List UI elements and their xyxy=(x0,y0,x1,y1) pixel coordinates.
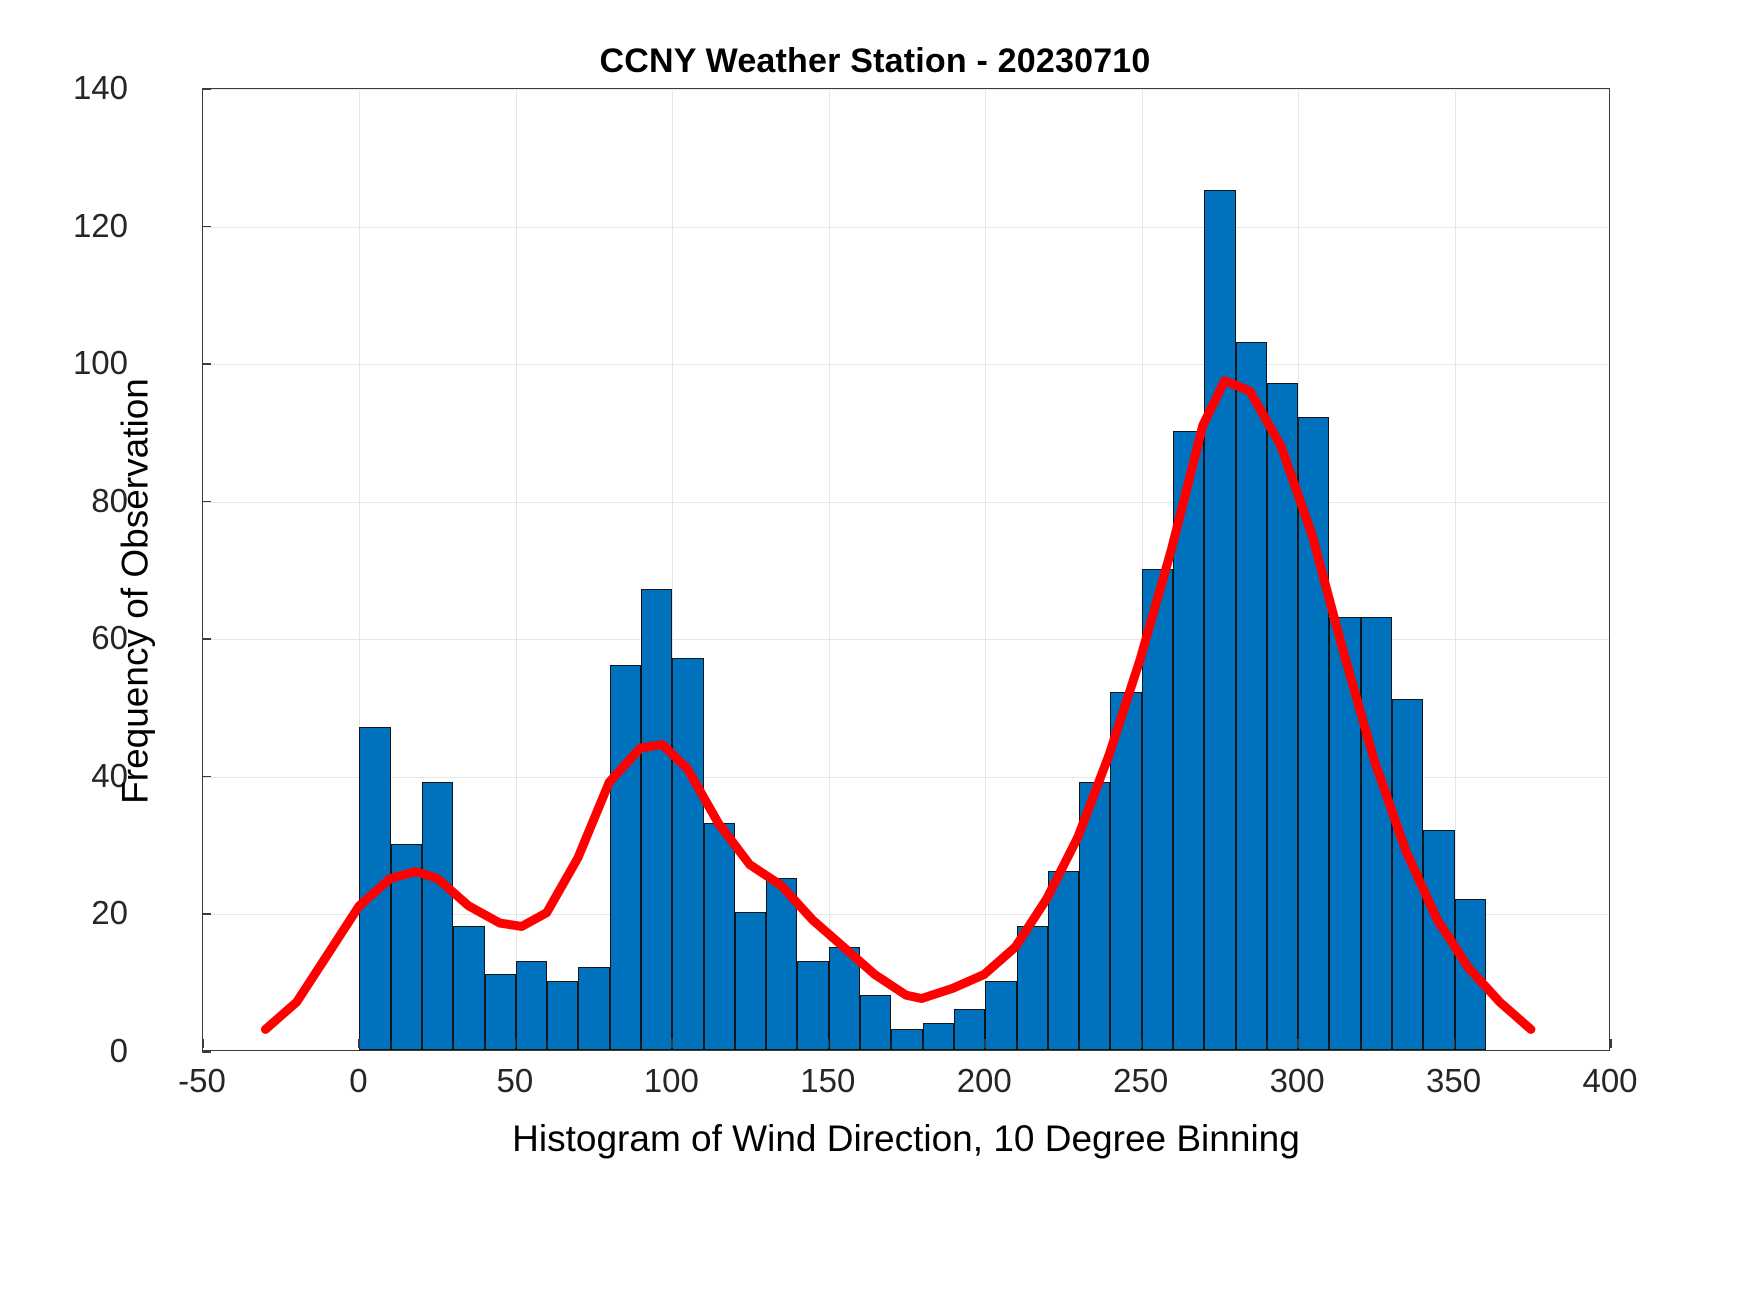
gridline-y-100 xyxy=(203,364,1609,365)
x-tick-label-200: 200 xyxy=(914,1062,1054,1100)
x-tick-label-150: 150 xyxy=(758,1062,898,1100)
histogram-bar xyxy=(1236,342,1267,1050)
y-tick-mark-20 xyxy=(202,913,211,915)
histogram-bar xyxy=(1204,190,1235,1050)
histogram-bar xyxy=(453,926,484,1050)
y-tick-mark-140 xyxy=(202,88,211,90)
histogram-bar xyxy=(359,727,390,1050)
gridline-y-140 xyxy=(203,89,1609,90)
y-tick-mark-60 xyxy=(202,638,211,640)
histogram-bar xyxy=(1423,830,1454,1050)
histogram-bar xyxy=(1142,569,1173,1051)
x-tick-label-300: 300 xyxy=(1227,1062,1367,1100)
y-tick-label-40: 40 xyxy=(8,757,128,795)
histogram-bar xyxy=(704,823,735,1050)
histogram-bar xyxy=(641,589,672,1050)
x-tick-mark-0 xyxy=(358,1039,360,1048)
histogram-bar xyxy=(1298,417,1329,1050)
histogram-bar xyxy=(610,665,641,1050)
y-tick-mark-120 xyxy=(202,226,211,228)
x-tick-mark-200 xyxy=(984,1039,986,1048)
chart-title: CCNY Weather Station - 20230710 xyxy=(0,42,1750,81)
gridline-x-150 xyxy=(829,89,830,1050)
histogram-bar xyxy=(1361,617,1392,1050)
histogram-bar xyxy=(829,947,860,1050)
y-tick-label-120: 120 xyxy=(8,207,128,245)
histogram-bar xyxy=(985,981,1016,1050)
gridline-y-80 xyxy=(203,502,1609,503)
x-tick-mark-250 xyxy=(1141,1039,1143,1048)
x-tick-mark-350 xyxy=(1454,1039,1456,1048)
y-tick-label-100: 100 xyxy=(8,344,128,382)
plot-area[interactable] xyxy=(202,88,1610,1051)
x-tick-label-250: 250 xyxy=(1071,1062,1211,1100)
histogram-bar xyxy=(391,844,422,1050)
histogram-bar xyxy=(766,878,797,1050)
histogram-bar xyxy=(735,912,766,1050)
x-tick-mark-100 xyxy=(671,1039,673,1048)
x-tick-mark--50 xyxy=(202,1039,204,1048)
x-tick-mark-400 xyxy=(1610,1039,1612,1048)
histogram-bar xyxy=(954,1009,985,1050)
x-tick-label-350: 350 xyxy=(1384,1062,1524,1100)
histogram-bar xyxy=(547,981,578,1050)
histogram-bar xyxy=(1267,383,1298,1050)
x-tick-mark-150 xyxy=(828,1039,830,1048)
y-tick-label-80: 80 xyxy=(8,482,128,520)
histogram-bar xyxy=(1110,692,1141,1050)
y-axis-label: Frequency of Observation xyxy=(115,110,157,1073)
y-tick-mark-80 xyxy=(202,501,211,503)
histogram-bar xyxy=(923,1023,954,1051)
gridline-x-50 xyxy=(516,89,517,1050)
histogram-bar xyxy=(1173,431,1204,1050)
x-tick-mark-50 xyxy=(515,1039,517,1048)
y-tick-mark-100 xyxy=(202,363,211,365)
histogram-bar xyxy=(516,961,547,1050)
histogram-bar xyxy=(1392,699,1423,1050)
y-tick-mark-0 xyxy=(202,1051,211,1053)
gridline-x-200 xyxy=(985,89,986,1050)
histogram-bar xyxy=(1079,782,1110,1050)
x-tick-label-400: 400 xyxy=(1540,1062,1680,1100)
x-tick-label-100: 100 xyxy=(601,1062,741,1100)
histogram-bar xyxy=(578,967,609,1050)
x-tick-label-50: 50 xyxy=(445,1062,585,1100)
histogram-bar xyxy=(891,1029,922,1050)
figure-canvas: CCNY Weather Station - 20230710 02040608… xyxy=(0,0,1750,1313)
y-tick-label-20: 20 xyxy=(8,894,128,932)
histogram-bar xyxy=(1017,926,1048,1050)
x-axis-label: Histogram of Wind Direction, 10 Degree B… xyxy=(202,1118,1610,1160)
histogram-bar xyxy=(797,961,828,1050)
histogram-bar xyxy=(1048,871,1079,1050)
x-tick-label-0: 0 xyxy=(288,1062,428,1100)
histogram-bar xyxy=(485,974,516,1050)
y-tick-label-0: 0 xyxy=(8,1032,128,1070)
y-tick-label-140: 140 xyxy=(8,69,128,107)
histogram-bar xyxy=(672,658,703,1050)
gridline-y-120 xyxy=(203,227,1609,228)
y-tick-label-60: 60 xyxy=(8,619,128,657)
x-tick-mark-300 xyxy=(1297,1039,1299,1048)
histogram-bar xyxy=(1329,617,1360,1050)
y-tick-mark-40 xyxy=(202,776,211,778)
histogram-bar xyxy=(422,782,453,1050)
histogram-bar xyxy=(1455,899,1486,1050)
histogram-bar xyxy=(860,995,891,1050)
gridline-y-60 xyxy=(203,639,1609,640)
